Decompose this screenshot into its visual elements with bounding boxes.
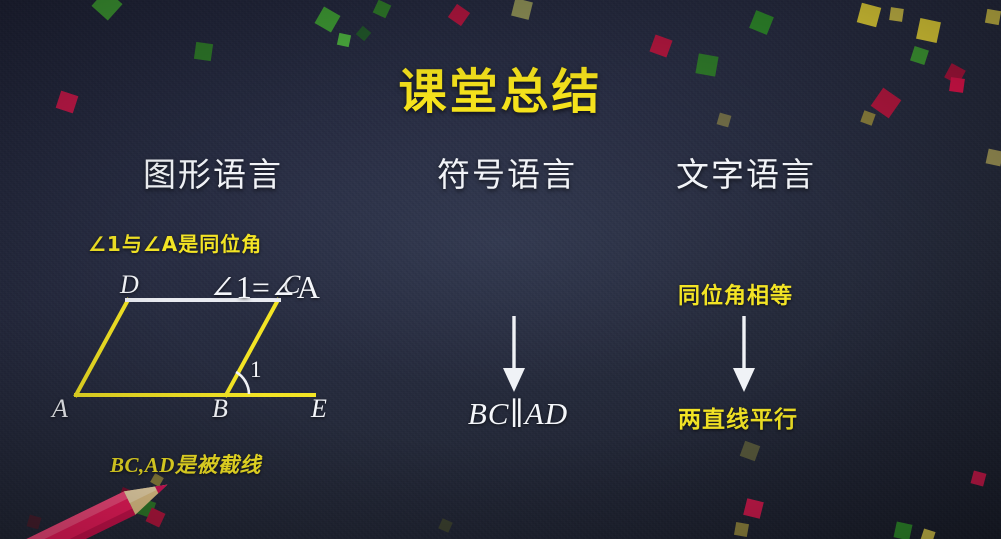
slide-canvas: 课堂总结 图形语言 符号语言 文字语言 ∠1与∠A是同位角 D C A B E … [0,0,1001,539]
confetti-square [438,518,453,533]
confetti-square [740,441,761,462]
confetti-square [734,522,749,537]
down-arrow-icon-text [724,316,764,394]
page-title: 课堂总结 [0,52,1001,122]
confetti-square [920,528,935,539]
confetti-square [749,10,774,35]
confetti-square [857,3,881,27]
column-heading-symbol: 符号语言 [437,148,577,196]
pencil-icon [0,468,220,539]
column-heading-text: 文字语言 [676,148,816,196]
column-heading-graphic: 图形语言 [143,148,283,196]
angle-label-1: 1 [250,357,262,383]
confetti-square [448,4,470,26]
confetti-square [894,522,913,539]
graphic-top-note: ∠1与∠A是同位角 [88,228,262,257]
symbol-conclusion: BC∥AD [443,396,593,432]
vertex-label-B: B [212,394,228,424]
down-arrow-icon-symbol [494,316,534,394]
text-conclusion: 两直线平行 [678,400,798,434]
confetti-square [916,18,941,43]
confetti-square [315,7,341,33]
confetti-square [971,471,987,487]
confetti-square [985,9,1001,25]
symbol-premise-row: ∠1=∠A [0,268,1001,306]
vertex-label-A: A [52,394,68,424]
confetti-square [743,498,764,519]
confetti-square [337,33,351,47]
confetti-square [511,0,533,20]
text-premise: 同位角相等 [678,278,793,310]
vertex-label-E: E [311,394,327,424]
segment-AD [76,300,128,395]
symbol-premise: ∠1=∠A [209,268,320,306]
confetti-square [91,0,122,21]
confetti-square [986,149,1001,167]
confetti-square [356,26,371,41]
confetti-square [889,7,904,22]
confetti-square [373,0,392,18]
